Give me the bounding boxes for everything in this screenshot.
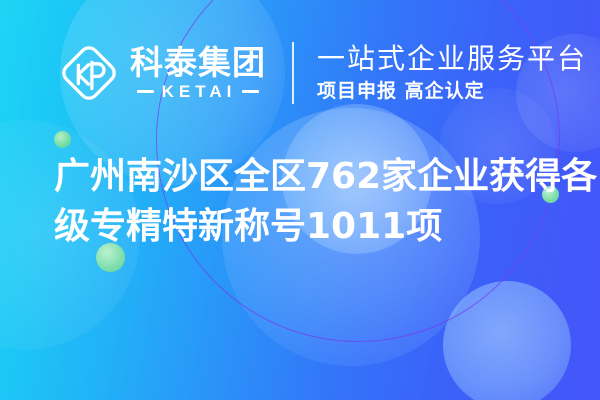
brand-wordmark: 科泰集团 KETAI <box>130 46 266 101</box>
tagline-primary: 一站式企业服务平台 <box>317 43 587 75</box>
headline-line-2: 级专精特新称号1011项 <box>54 202 554 252</box>
promo-banner: 科泰集团 KETAI 一站式企业服务平台 项目申报 高企认定 广州南沙区全区76… <box>0 0 600 400</box>
headline-line-1: 广州南沙区全区762家企业获得各 <box>54 152 554 202</box>
tagline-block: 一站式企业服务平台 项目申报 高企认定 <box>317 43 587 103</box>
wordmark-rule-right <box>242 90 259 93</box>
banner-header: 科泰集团 KETAI 一站式企业服务平台 项目申报 高企认定 <box>0 30 600 116</box>
brand-name-cn: 科泰集团 <box>130 46 266 80</box>
ketai-diamond-kp-mark-icon <box>58 42 120 104</box>
bottom-right-circle <box>443 281 571 400</box>
wordmark-rule-left <box>137 90 154 93</box>
header-divider <box>292 42 294 104</box>
green-dot-upper-left <box>54 131 71 148</box>
tagline-secondary: 项目申报 高企认定 <box>317 79 587 103</box>
brand-name-en-row: KETAI <box>130 83 266 101</box>
headline: 广州南沙区全区762家企业获得各 级专精特新称号1011项 <box>54 152 554 252</box>
brand-name-en: KETAI <box>162 83 237 101</box>
brand-logo: 科泰集团 KETAI <box>58 42 266 104</box>
